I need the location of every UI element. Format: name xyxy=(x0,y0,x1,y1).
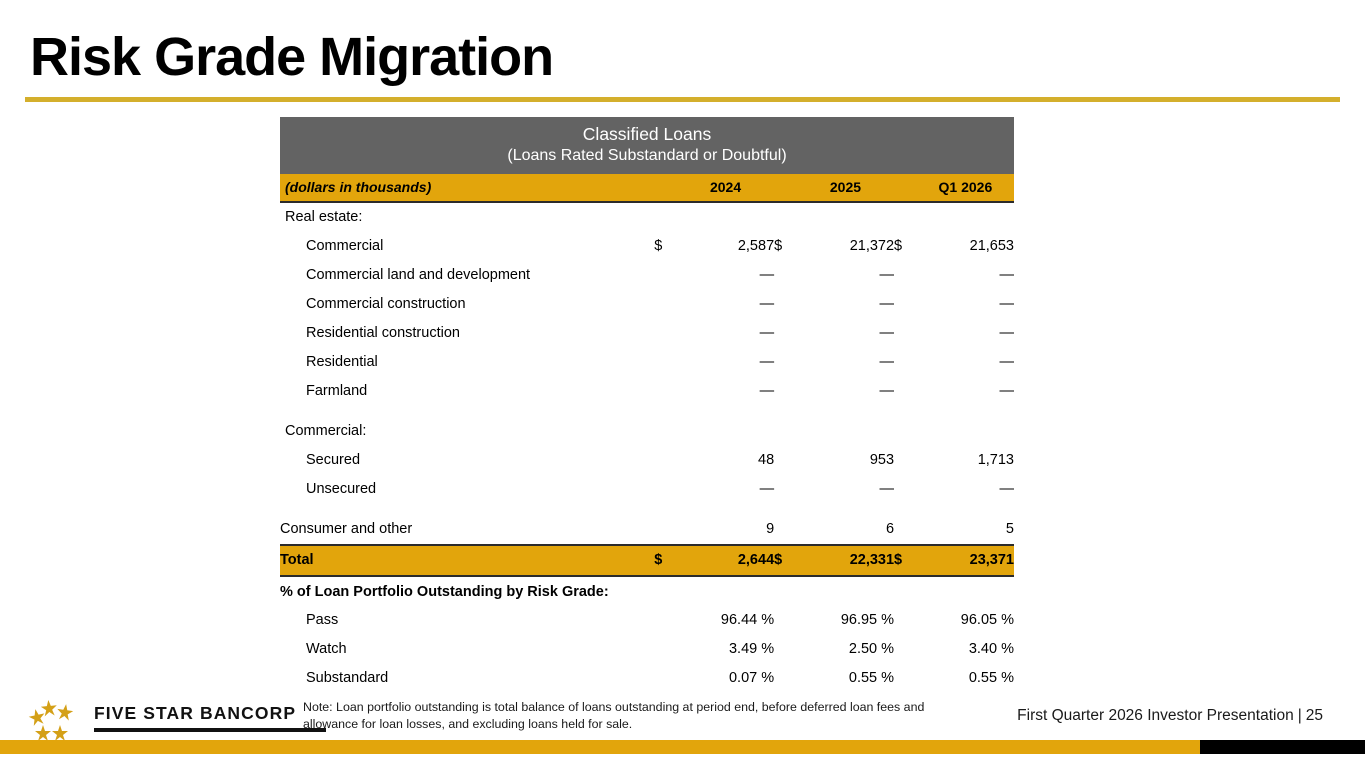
currency-symbol xyxy=(654,348,677,377)
table-row: Residential——— xyxy=(280,348,1014,377)
table-cell-value: — xyxy=(917,319,1014,348)
table-cell-value: — xyxy=(917,377,1014,406)
currency-symbol xyxy=(654,319,677,348)
currency-symbol xyxy=(654,377,677,406)
currency-symbol xyxy=(894,348,917,377)
table-row: Residential construction——— xyxy=(280,319,1014,348)
table-cell-label: Residential xyxy=(280,348,654,377)
table-cell-value: — xyxy=(797,475,894,504)
table-cell-value: — xyxy=(677,319,774,348)
table-cell-value: 2,587 xyxy=(677,232,774,261)
table-cell-value: 9 xyxy=(677,515,774,545)
page-number: 25 xyxy=(1306,707,1323,724)
currency-symbol xyxy=(774,446,797,475)
currency-symbol: $ xyxy=(654,232,677,261)
currency-symbol xyxy=(774,348,797,377)
table-cell-value: — xyxy=(677,377,774,406)
currency-symbol xyxy=(774,377,797,406)
table-cell-value: 21,653 xyxy=(917,232,1014,261)
table-cell-value: — xyxy=(677,261,774,290)
table-cell-value: — xyxy=(917,475,1014,504)
column-header-spacer xyxy=(654,174,677,202)
table-cell-label: Commercial construction xyxy=(280,290,654,319)
table-cell-value: — xyxy=(797,348,894,377)
table-header-title: Classified Loans xyxy=(280,117,1014,148)
column-header-2024: 2024 xyxy=(677,174,774,202)
bottom-bar-gold xyxy=(0,740,1200,754)
table-cell-value: 6 xyxy=(797,515,894,545)
table-row-risk-grade: Pass96.44 %96.95 %96.05 % xyxy=(280,606,1014,635)
table-cell-label: Substandard xyxy=(280,664,654,693)
table-header-band: Classified Loans xyxy=(280,117,1014,148)
table-cell-label: Total xyxy=(280,545,654,576)
row-spacer xyxy=(280,504,1014,515)
column-header-spacer xyxy=(894,174,917,202)
table-cell-percent: 0.55 % xyxy=(797,664,894,693)
table-cell-value: 48 xyxy=(677,446,774,475)
table-row: Secured489531,713 xyxy=(280,446,1014,475)
table-row: Commercial$2,587$21,372$21,653 xyxy=(280,232,1014,261)
section-label: Real estate: xyxy=(280,202,654,232)
risk-grade-heading-label: % of Loan Portfolio Outstanding by Risk … xyxy=(280,576,654,606)
table-cell-percent: 2.50 % xyxy=(797,635,894,664)
section-label: Commercial: xyxy=(280,417,654,446)
table-cell-percent: 0.07 % xyxy=(677,664,774,693)
column-header-spacer xyxy=(774,174,797,202)
table-cell-value: — xyxy=(677,475,774,504)
table-cell-value: — xyxy=(797,290,894,319)
risk-grade-heading-blank xyxy=(654,576,1014,606)
table-cell-value: — xyxy=(677,348,774,377)
table-cell-value: 1,713 xyxy=(917,446,1014,475)
row-spacer xyxy=(280,406,1014,417)
currency-symbol xyxy=(654,261,677,290)
currency-symbol: $ xyxy=(894,232,917,261)
table-cell-value: — xyxy=(797,319,894,348)
currency-symbol xyxy=(654,515,677,545)
currency-symbol xyxy=(894,377,917,406)
table-cell-label: Residential construction xyxy=(280,319,654,348)
currency-symbol xyxy=(894,475,917,504)
currency-symbol xyxy=(894,290,917,319)
table-cell-percent: 0.55 % xyxy=(917,664,1014,693)
table-row-risk-grade: Watch3.49 %2.50 %3.40 % xyxy=(280,635,1014,664)
table-cell-percent: 96.05 % xyxy=(917,606,1014,635)
currency-symbol xyxy=(654,446,677,475)
table-cell-label: Pass xyxy=(280,606,654,635)
table-header-subtitle: (Loans Rated Substandard or Doubtful) xyxy=(280,148,1014,174)
title-divider xyxy=(25,97,1340,102)
percent-spacer xyxy=(894,606,917,635)
table-cell-label: Commercial xyxy=(280,232,654,261)
table-cell-label: Secured xyxy=(280,446,654,475)
table-cell-value: — xyxy=(797,261,894,290)
table-cell-percent: 3.49 % xyxy=(677,635,774,664)
column-header-q1-2026: Q1 2026 xyxy=(917,174,1014,202)
table-cell-value: — xyxy=(917,261,1014,290)
table-section-heading: Real estate: xyxy=(280,202,1014,232)
table-cell-label: Farmland xyxy=(280,377,654,406)
table-cell-label: Commercial land and development xyxy=(280,261,654,290)
table-cell-value: — xyxy=(917,348,1014,377)
table-row-total: Total$2,644$22,331$23,371 xyxy=(280,545,1014,576)
percent-spacer xyxy=(774,664,797,693)
footer-separator: | xyxy=(1294,707,1306,724)
table-section-heading: Commercial: xyxy=(280,417,1014,446)
table-cell-label: Consumer and other xyxy=(280,515,654,545)
table-header-subtitle-row: (Loans Rated Substandard or Doubtful) xyxy=(280,148,1014,174)
table-cell-value: 953 xyxy=(797,446,894,475)
table-cell-value: — xyxy=(917,290,1014,319)
currency-symbol xyxy=(894,515,917,545)
table-cell-label: Unsecured xyxy=(280,475,654,504)
logo-wordmark: FIVE STAR BANCORP xyxy=(94,703,296,724)
table-column-header: (dollars in thousands)20242025Q1 2026 xyxy=(280,174,1014,202)
currency-symbol xyxy=(654,290,677,319)
classified-loans-table: Classified Loans(Loans Rated Substandard… xyxy=(280,117,1014,693)
risk-grade-heading: % of Loan Portfolio Outstanding by Risk … xyxy=(280,576,1014,606)
currency-symbol xyxy=(774,261,797,290)
section-blank xyxy=(654,202,1014,232)
currency-symbol: $ xyxy=(654,545,677,576)
table-row: Unsecured——— xyxy=(280,475,1014,504)
table-cell-value: 2,644 xyxy=(677,545,774,576)
table-cell-value: 21,372 xyxy=(797,232,894,261)
currency-symbol xyxy=(894,319,917,348)
percent-spacer xyxy=(894,664,917,693)
units-label: (dollars in thousands) xyxy=(280,174,654,202)
five-stars-icon xyxy=(28,697,90,743)
presentation-title: First Quarter 2026 Investor Presentation xyxy=(1017,707,1294,724)
table-cell-percent: 3.40 % xyxy=(917,635,1014,664)
table-row: Commercial land and development——— xyxy=(280,261,1014,290)
table-cell-percent: 96.44 % xyxy=(677,606,774,635)
logo-underline xyxy=(94,728,326,732)
currency-symbol xyxy=(774,515,797,545)
table-cell-value: 5 xyxy=(917,515,1014,545)
column-header-2025: 2025 xyxy=(797,174,894,202)
percent-spacer xyxy=(894,635,917,664)
currency-symbol: $ xyxy=(894,545,917,576)
table-cell-value: — xyxy=(797,377,894,406)
percent-spacer xyxy=(774,606,797,635)
table-row-risk-grade: Substandard0.07 %0.55 %0.55 % xyxy=(280,664,1014,693)
percent-spacer xyxy=(654,606,677,635)
currency-symbol xyxy=(774,319,797,348)
table-row: Farmland——— xyxy=(280,377,1014,406)
table-row-consumer-and-other: Consumer and other965 xyxy=(280,515,1014,545)
currency-symbol xyxy=(894,446,917,475)
page-title: Risk Grade Migration xyxy=(30,30,553,84)
percent-spacer xyxy=(654,635,677,664)
table-cell-value: — xyxy=(677,290,774,319)
table-row: Commercial construction——— xyxy=(280,290,1014,319)
footnote: Note: Loan portfolio outstanding is tota… xyxy=(303,699,975,732)
currency-symbol xyxy=(894,261,917,290)
section-blank xyxy=(654,417,1014,446)
company-logo: FIVE STAR BANCORP xyxy=(28,697,300,743)
percent-spacer xyxy=(774,635,797,664)
presentation-footer: First Quarter 2026 Investor Presentation… xyxy=(1017,707,1323,725)
table-cell-percent: 96.95 % xyxy=(797,606,894,635)
currency-symbol xyxy=(774,290,797,319)
table-cell-label: Watch xyxy=(280,635,654,664)
table-cell-value: 22,331 xyxy=(797,545,894,576)
currency-symbol: $ xyxy=(774,545,797,576)
bottom-bar-black xyxy=(1200,740,1365,754)
currency-symbol xyxy=(774,475,797,504)
percent-spacer xyxy=(654,664,677,693)
table-cell-value: 23,371 xyxy=(917,545,1014,576)
currency-symbol xyxy=(654,475,677,504)
currency-symbol: $ xyxy=(774,232,797,261)
